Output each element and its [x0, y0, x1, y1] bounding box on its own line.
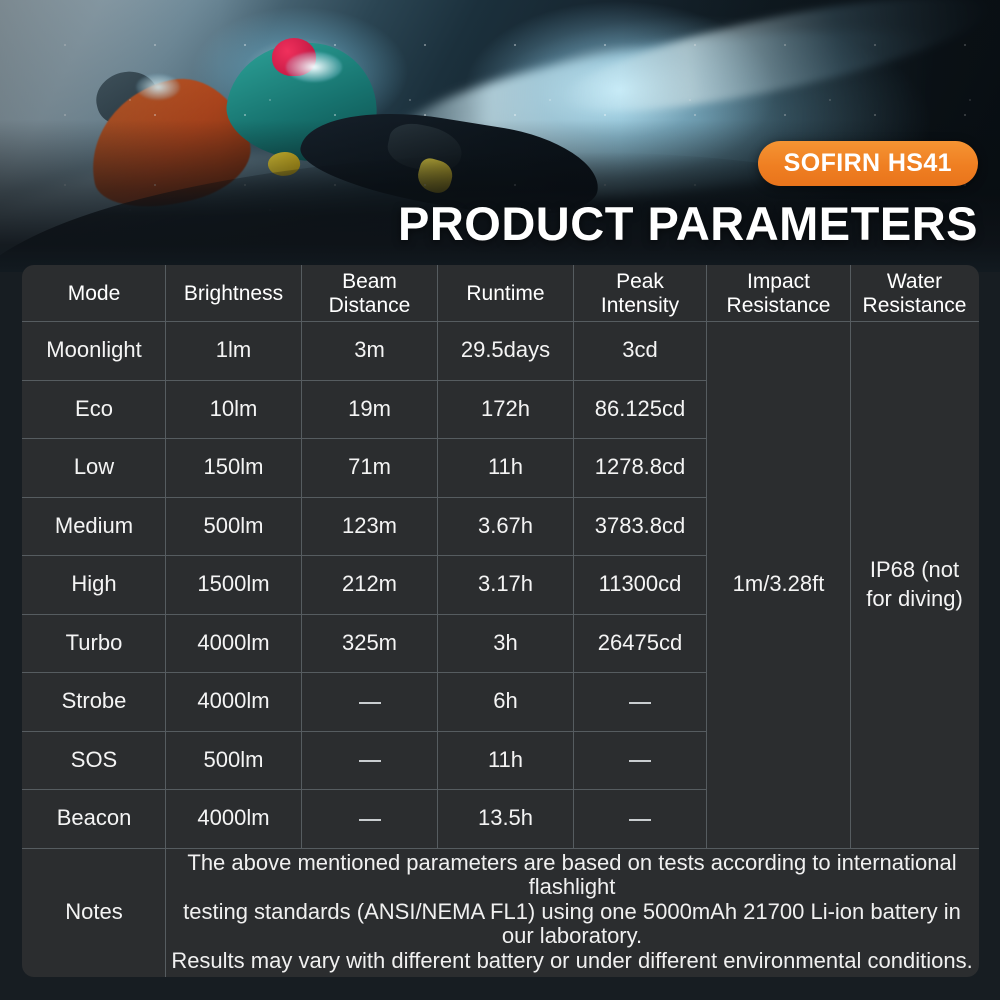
cell-beam: 71m: [302, 439, 438, 498]
cell-runtime: 29.5days: [438, 322, 574, 381]
empty-value-dash-icon: [359, 760, 381, 762]
cell-peak: [574, 790, 707, 849]
column-header-water-resistance: Water Resistance: [851, 266, 979, 322]
cell-runtime: 3.67h: [438, 497, 574, 556]
cell-runtime: 6h: [438, 673, 574, 732]
cell-brightness: 4000lm: [166, 790, 302, 849]
cell-water-resistance: IP68 (not for diving): [851, 322, 979, 849]
cell-mode: Strobe: [23, 673, 166, 732]
product-parameters-table: Mode Brightness Beam Distance Runtime Pe…: [22, 265, 979, 977]
cell-peak: 11300cd: [574, 556, 707, 615]
cell-brightness: 10lm: [166, 380, 302, 439]
cell-peak: 26475cd: [574, 614, 707, 673]
cell-runtime: 13.5h: [438, 790, 574, 849]
cell-beam: [302, 790, 438, 849]
notes-body: The above mentioned parameters are based…: [166, 848, 979, 976]
page-title: PRODUCT PARAMETERS: [398, 200, 978, 247]
cell-mode: Beacon: [23, 790, 166, 849]
cell-mode: Eco: [23, 380, 166, 439]
column-header-peak-intensity: Peak Intensity: [574, 266, 707, 322]
notes-line: Results may vary with different battery …: [170, 949, 974, 974]
cell-runtime: 3h: [438, 614, 574, 673]
product-name-badge: SOFIRN HS41: [758, 141, 978, 186]
cell-runtime: 11h: [438, 731, 574, 790]
empty-value-dash-icon: [629, 702, 651, 704]
column-header-beam-distance: Beam Distance: [302, 266, 438, 322]
cell-beam: [302, 673, 438, 732]
column-header-runtime: Runtime: [438, 266, 574, 322]
cell-brightness: 4000lm: [166, 614, 302, 673]
empty-value-dash-icon: [359, 702, 381, 704]
empty-value-dash-icon: [629, 760, 651, 762]
notes-line: The above mentioned parameters are based…: [170, 851, 974, 900]
table-row: Moonlight 1lm 3m 29.5days 3cd 1m/3.28ft …: [23, 322, 979, 381]
empty-value-dash-icon: [359, 819, 381, 821]
cell-mode: Low: [23, 439, 166, 498]
header-row: Mode Brightness Beam Distance Runtime Pe…: [23, 266, 979, 322]
cell-runtime: 172h: [438, 380, 574, 439]
notes-label: Notes: [23, 848, 166, 976]
cell-peak: 86.125cd: [574, 380, 707, 439]
cell-beam: 3m: [302, 322, 438, 381]
column-header-brightness: Brightness: [166, 266, 302, 322]
cell-impact-resistance: 1m/3.28ft: [707, 322, 851, 849]
cell-peak: 3783.8cd: [574, 497, 707, 556]
cell-mode: High: [23, 556, 166, 615]
cell-mode: Moonlight: [23, 322, 166, 381]
cell-brightness: 500lm: [166, 731, 302, 790]
cell-beam: 123m: [302, 497, 438, 556]
column-header-mode: Mode: [23, 266, 166, 322]
cell-beam: 325m: [302, 614, 438, 673]
cell-mode: SOS: [23, 731, 166, 790]
empty-value-dash-icon: [629, 819, 651, 821]
cell-peak: 3cd: [574, 322, 707, 381]
cell-mode: Medium: [23, 497, 166, 556]
cell-beam: [302, 731, 438, 790]
table-body: Moonlight 1lm 3m 29.5days 3cd 1m/3.28ft …: [23, 322, 979, 977]
notes-line: testing standards (ANSI/NEMA FL1) using …: [170, 900, 974, 949]
cell-beam: 19m: [302, 380, 438, 439]
cell-brightness: 150lm: [166, 439, 302, 498]
cell-peak: [574, 731, 707, 790]
cell-brightness: 500lm: [166, 497, 302, 556]
product-name-label: SOFIRN HS41: [784, 149, 952, 178]
column-header-impact-resistance: Impact Resistance: [707, 266, 851, 322]
cell-brightness: 1500lm: [166, 556, 302, 615]
cell-brightness: 1lm: [166, 322, 302, 381]
notes-row: Notes The above mentioned parameters are…: [23, 848, 979, 976]
cell-peak: [574, 673, 707, 732]
cell-mode: Turbo: [23, 614, 166, 673]
cell-peak: 1278.8cd: [574, 439, 707, 498]
cell-runtime: 11h: [438, 439, 574, 498]
cell-brightness: 4000lm: [166, 673, 302, 732]
table-header: Mode Brightness Beam Distance Runtime Pe…: [23, 266, 979, 322]
cell-runtime: 3.17h: [438, 556, 574, 615]
cell-beam: 212m: [302, 556, 438, 615]
